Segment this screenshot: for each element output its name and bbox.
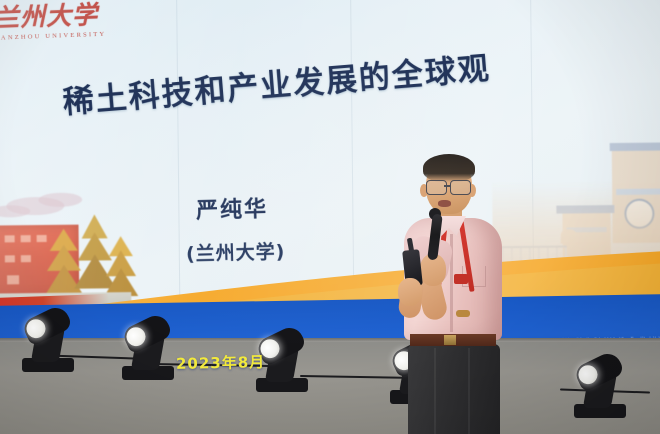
presenter-badge <box>454 274 468 284</box>
stage-light-1 <box>22 308 78 372</box>
slide-speaker-affiliation: (兰州大学) <box>186 237 286 266</box>
wristwatch <box>456 310 470 317</box>
presenter-figure <box>398 158 548 434</box>
presenter-hand <box>398 278 422 306</box>
stage-floor <box>0 338 660 434</box>
stage-light-5 <box>574 354 630 418</box>
light-lens-icon <box>575 362 600 387</box>
stage-light-2 <box>122 316 178 380</box>
light-lens-icon <box>23 316 48 341</box>
logo-chinese-text: 兰州大学 <box>0 3 94 32</box>
slide-date-text: 2023年8月 <box>176 351 266 374</box>
light-lens-icon <box>123 324 148 349</box>
eyeglasses-icon <box>426 180 447 195</box>
stage-scene: 兰州大学 LANZHOU UNIVERSITY <box>0 0 660 434</box>
eyeglasses-icon <box>450 180 471 195</box>
presenter-trousers <box>408 344 500 434</box>
slide-speaker-name: 严纯华 <box>196 191 269 225</box>
logo-english-text: LANZHOU UNIVERSITY <box>0 31 95 42</box>
autumn-tree <box>105 236 138 300</box>
presenter-hair <box>423 154 475 182</box>
university-logo: 兰州大学 LANZHOU UNIVERSITY <box>0 3 95 55</box>
